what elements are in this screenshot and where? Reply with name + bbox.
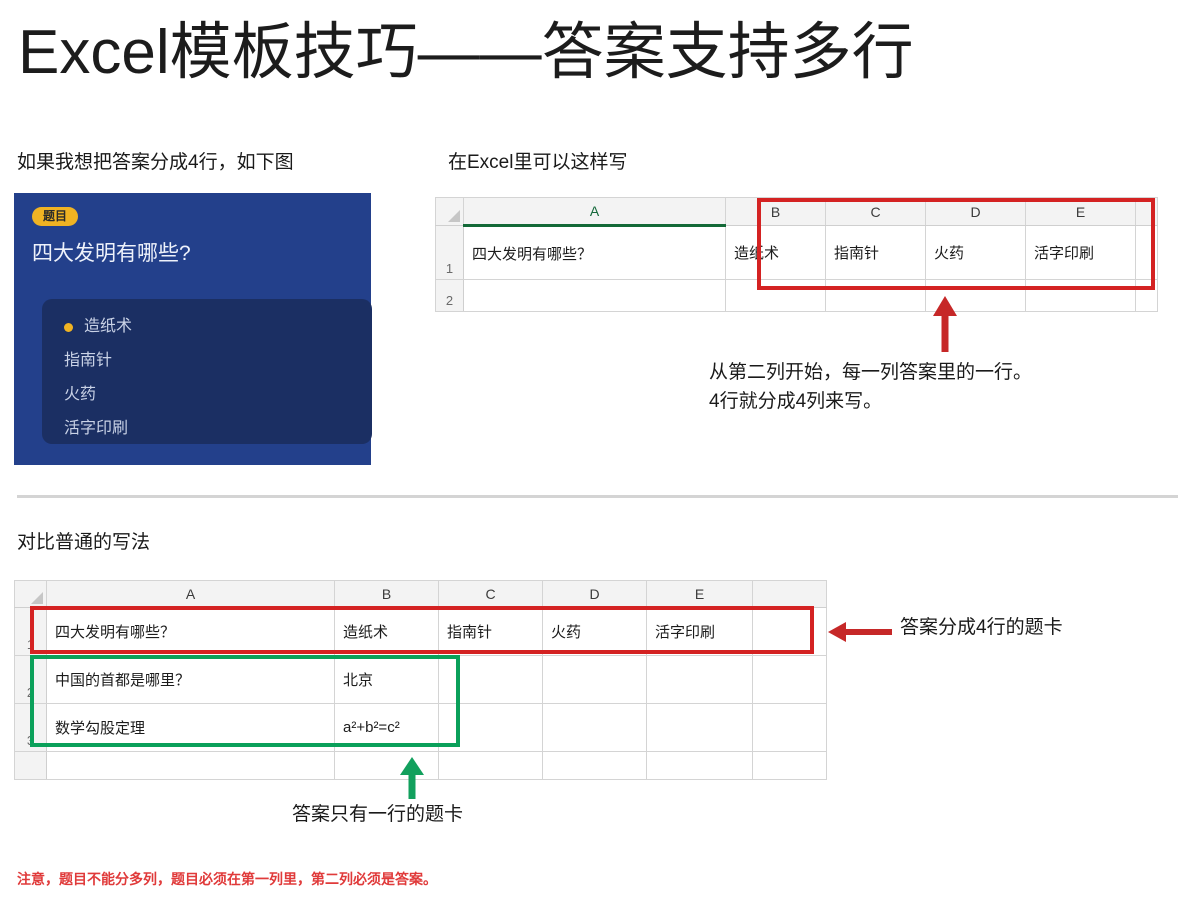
answer-row: 活字印刷 [64,421,372,437]
cell-b2[interactable] [726,280,826,312]
column-header-e[interactable]: E [647,581,753,608]
cell-e2[interactable] [1026,280,1136,312]
row-header-1[interactable]: 1 [436,226,464,280]
cell-a4[interactable] [47,752,335,780]
column-header-e[interactable]: E [1026,198,1136,226]
cell-a2[interactable] [464,280,726,312]
cell-f4[interactable] [753,752,827,780]
answer-label: 火药 [64,387,96,403]
section-divider [17,495,1178,498]
excel-grid-bottom[interactable]: A B C D E 1 四大发明有哪些？ 造纸术 指南针 火药 活字印刷 2 中… [14,580,826,768]
cell-c2[interactable] [826,280,926,312]
table-row: 3 数学勾股定理 a²+b²=c² [15,704,827,752]
table-row: 2 中国的首都是哪里？ 北京 [15,656,827,704]
annotation-bottom-green: 答案只有一行的题卡 [292,800,463,829]
cell-e3[interactable] [647,704,753,752]
answer-label: 造纸术 [84,319,132,335]
arrow-head [933,296,957,316]
excel-grid-top[interactable]: A B C D E 1 四大发明有哪些？ 造纸术 指南针 火药 活字印刷 2 [435,197,1157,302]
column-header-d[interactable]: D [543,581,647,608]
annotation-top-line1: 从第二列开始，每一列答案里的一行。 [709,358,1179,387]
cell-f3[interactable] [753,704,827,752]
cell-e4[interactable] [647,752,753,780]
cell-a1[interactable]: 四大发明有哪些？ [464,226,726,280]
page-title: Excel模板技巧——答案支持多行 [18,22,914,84]
cell-e1[interactable]: 活字印刷 [647,608,753,656]
cell-b2[interactable]: 北京 [335,656,439,704]
cell-d3[interactable] [543,704,647,752]
footer-warning-note: 注意，题目不能分多列，题目必须在第一列里，第二列必须是答案。 [17,869,437,889]
cell-c4[interactable] [439,752,543,780]
arrow-up-green-icon [399,757,425,799]
column-header-b[interactable]: B [335,581,439,608]
arrow-head [400,757,424,775]
arrow-stem [844,629,892,635]
corner-triangle-icon [448,210,460,222]
cell-e1[interactable]: 活字印刷 [1026,226,1136,280]
cell-c2[interactable] [439,656,543,704]
cell-a3[interactable]: 数学勾股定理 [47,704,335,752]
cell-e2[interactable] [647,656,753,704]
answer-row: 造纸术 [64,319,372,335]
slide-page: Excel模板技巧——答案支持多行 如果我想把答案分成4行，如下图 在Excel… [0,0,1195,921]
cell-f2[interactable] [753,656,827,704]
row-header-3[interactable]: 3 [15,704,47,752]
column-header-a[interactable]: A [47,581,335,608]
table-row: 2 [436,280,1158,312]
cell-f2[interactable] [1136,280,1158,312]
row-header-4[interactable] [15,752,47,780]
table-row: 1 四大发明有哪些？ 造纸术 指南针 火药 活字印刷 [436,226,1158,280]
column-header-extra[interactable] [753,581,827,608]
cell-d1[interactable]: 火药 [543,608,647,656]
caption-right: 在Excel里可以这样写 [448,147,627,174]
cell-d1[interactable]: 火药 [926,226,1026,280]
table-row: 1 四大发明有哪些？ 造纸术 指南针 火药 活字印刷 [15,608,827,656]
arrow-stem [409,773,416,799]
row-header-2[interactable]: 2 [15,656,47,704]
cell-d4[interactable] [543,752,647,780]
cell-c3[interactable] [439,704,543,752]
answer-label: 活字印刷 [64,421,128,437]
cell-b1[interactable]: 造纸术 [335,608,439,656]
column-header-b[interactable]: B [726,198,826,226]
cell-f1[interactable] [1136,226,1158,280]
arrow-stem [942,314,949,352]
caption-left: 如果我想把答案分成4行，如下图 [17,147,294,174]
column-header-c[interactable]: C [826,198,926,226]
annotation-bottom-red: 答案分成4行的题卡 [900,613,1063,642]
question-badge: 题目 [32,207,78,226]
annotation-top-line2: 4行就分成4列来写。 [709,387,1179,416]
answer-label: 指南针 [64,353,112,369]
column-header-d[interactable]: D [926,198,1026,226]
cell-b1[interactable]: 造纸术 [726,226,826,280]
arrow-left-red-icon [828,622,892,642]
column-header-extra[interactable] [1136,198,1158,226]
corner-triangle-icon [31,592,43,604]
answer-row: 指南针 [64,353,372,369]
question-text: 四大发明有哪些? [32,237,353,267]
caption-compare: 对比普通的写法 [17,527,150,554]
arrow-up-red-icon [932,296,958,352]
row-header-2[interactable]: 2 [436,280,464,312]
bullet-dot-icon [64,323,73,332]
cell-d2[interactable] [543,656,647,704]
select-all-corner[interactable] [15,581,47,608]
cell-a1[interactable]: 四大发明有哪些？ [47,608,335,656]
row-header-1[interactable]: 1 [15,608,47,656]
cell-c1[interactable]: 指南针 [826,226,926,280]
answer-panel: 造纸术 指南针 火药 活字印刷 [42,299,372,444]
cell-a2[interactable]: 中国的首都是哪里？ [47,656,335,704]
cell-c1[interactable]: 指南针 [439,608,543,656]
answer-row: 火药 [64,387,372,403]
column-header-c[interactable]: C [439,581,543,608]
question-card: 题目 四大发明有哪些? 造纸术 指南针 火药 活字印刷 [14,193,371,465]
column-header-a[interactable]: A [464,198,726,226]
select-all-corner[interactable] [436,198,464,226]
annotation-top: 从第二列开始，每一列答案里的一行。 4行就分成4列来写。 [709,358,1179,417]
cell-b3[interactable]: a²+b²=c² [335,704,439,752]
cell-f1[interactable] [753,608,827,656]
